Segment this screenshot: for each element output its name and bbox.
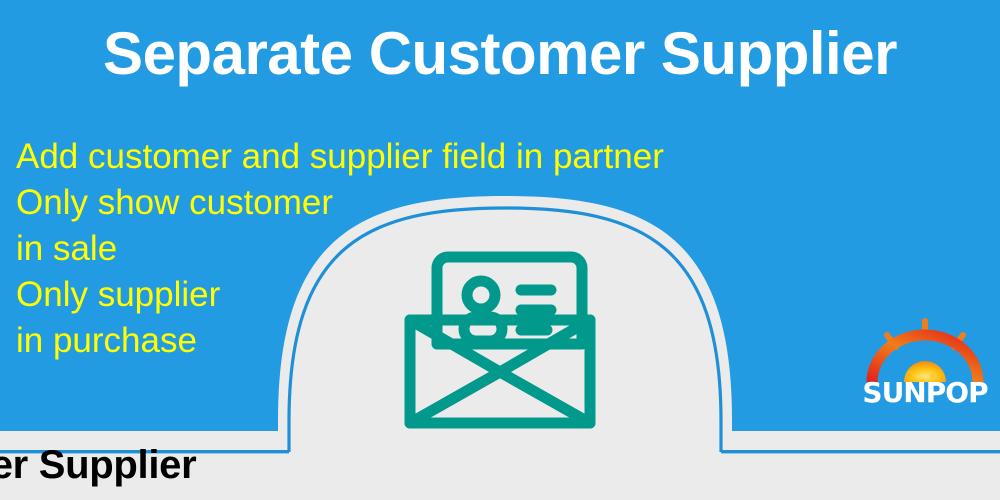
sunpop-logo: SUNPOP [862, 318, 988, 418]
banner-caption: Customer Supplier [0, 443, 1000, 488]
feature-list: Add customer and supplier field in partn… [16, 134, 916, 364]
feature-item: in purchase [16, 318, 916, 364]
feature-item: Add customer and supplier field in partn… [16, 134, 916, 180]
sun-rising-icon [862, 318, 988, 384]
sunpop-wordmark: SUNPOP [862, 376, 988, 409]
feature-item: Only show customer [16, 180, 916, 226]
banner-caption-text: Customer Supplier [0, 443, 196, 487]
product-banner: Separate Customer Supplier Add customer … [0, 0, 1000, 500]
feature-item: Only supplier [16, 272, 916, 318]
feature-item: in sale [16, 226, 916, 272]
banner-title: Separate Customer Supplier [0, 22, 1000, 85]
